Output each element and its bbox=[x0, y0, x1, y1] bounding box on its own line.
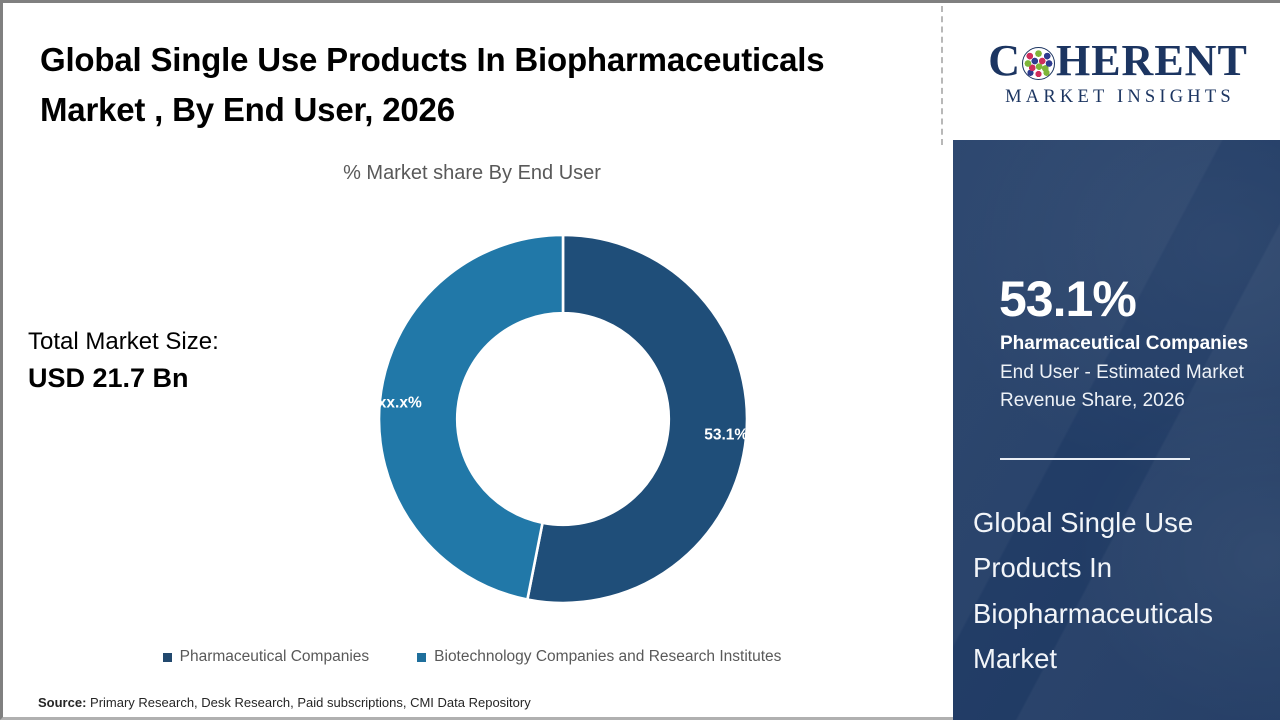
chart-subtitle: % Market share By End User bbox=[3, 162, 941, 185]
total-market-size-value: USD 21.7 Bn bbox=[28, 359, 328, 397]
highlight-stat-segment-name: Pharmaceutical Companies bbox=[1000, 333, 1248, 354]
panel-divider-rule bbox=[1000, 458, 1190, 460]
total-market-size-label: Total Market Size: bbox=[28, 325, 328, 359]
donut-slice-label: xx.x% bbox=[378, 395, 422, 412]
right-column: C HERENT MARKET INSIGHTS 53.1% Pharmaceu… bbox=[953, 6, 1280, 720]
legend-label: Biotechnology Companies and Research Ins… bbox=[434, 648, 781, 666]
highlight-panel: 53.1% Pharmaceutical Companies End User … bbox=[953, 140, 1280, 720]
source-prefix: Source: bbox=[38, 695, 86, 710]
vertical-dashed-divider bbox=[941, 6, 943, 145]
globe-dots-icon bbox=[1022, 47, 1055, 80]
legend-swatch-icon bbox=[417, 653, 426, 662]
total-market-size: Total Market Size: USD 21.7 Bn bbox=[28, 325, 328, 397]
main-chart-panel: Global Single Use Products In Biopharmac… bbox=[3, 3, 941, 717]
donut-slice-label: 53.1% bbox=[704, 426, 748, 443]
brand-name-suffix: HERENT bbox=[1056, 39, 1248, 83]
legend-swatch-icon bbox=[163, 653, 172, 662]
highlight-stat-value: 53.1% bbox=[999, 274, 1136, 324]
legend-item-pharmaceutical-companies[interactable]: Pharmaceutical Companies bbox=[163, 648, 370, 666]
brand-logo: C HERENT MARKET INSIGHTS bbox=[953, 6, 1280, 140]
chart-legend: Pharmaceutical Companies Biotechnology C… bbox=[3, 648, 941, 666]
donut-chart-svg: 53.1%xx.x% bbox=[375, 231, 751, 607]
source-text: Primary Research, Desk Research, Paid su… bbox=[86, 695, 530, 710]
legend-label: Pharmaceutical Companies bbox=[180, 648, 370, 666]
legend-item-biotechnology-companies[interactable]: Biotechnology Companies and Research Ins… bbox=[417, 648, 781, 666]
page-title: Global Single Use Products In Biopharmac… bbox=[40, 35, 910, 135]
infographic-root: Global Single Use Products In Biopharmac… bbox=[0, 0, 1280, 720]
brand-logo-wordmark: C HERENT bbox=[988, 39, 1248, 83]
brand-tagline: MARKET INSIGHTS bbox=[1001, 87, 1235, 108]
source-note: Source: Primary Research, Desk Research,… bbox=[38, 695, 531, 710]
highlight-stat-description-rest: End User - Estimated Market Revenue Shar… bbox=[1000, 362, 1244, 412]
donut-chart: 53.1%xx.x% bbox=[375, 231, 751, 607]
donut-slice[interactable] bbox=[379, 235, 563, 600]
brand-name-prefix: C bbox=[988, 39, 1021, 83]
highlight-stat-description: Pharmaceutical Companies End User - Esti… bbox=[1000, 330, 1255, 416]
panel-market-name: Global Single Use Products In Biopharmac… bbox=[973, 500, 1280, 682]
